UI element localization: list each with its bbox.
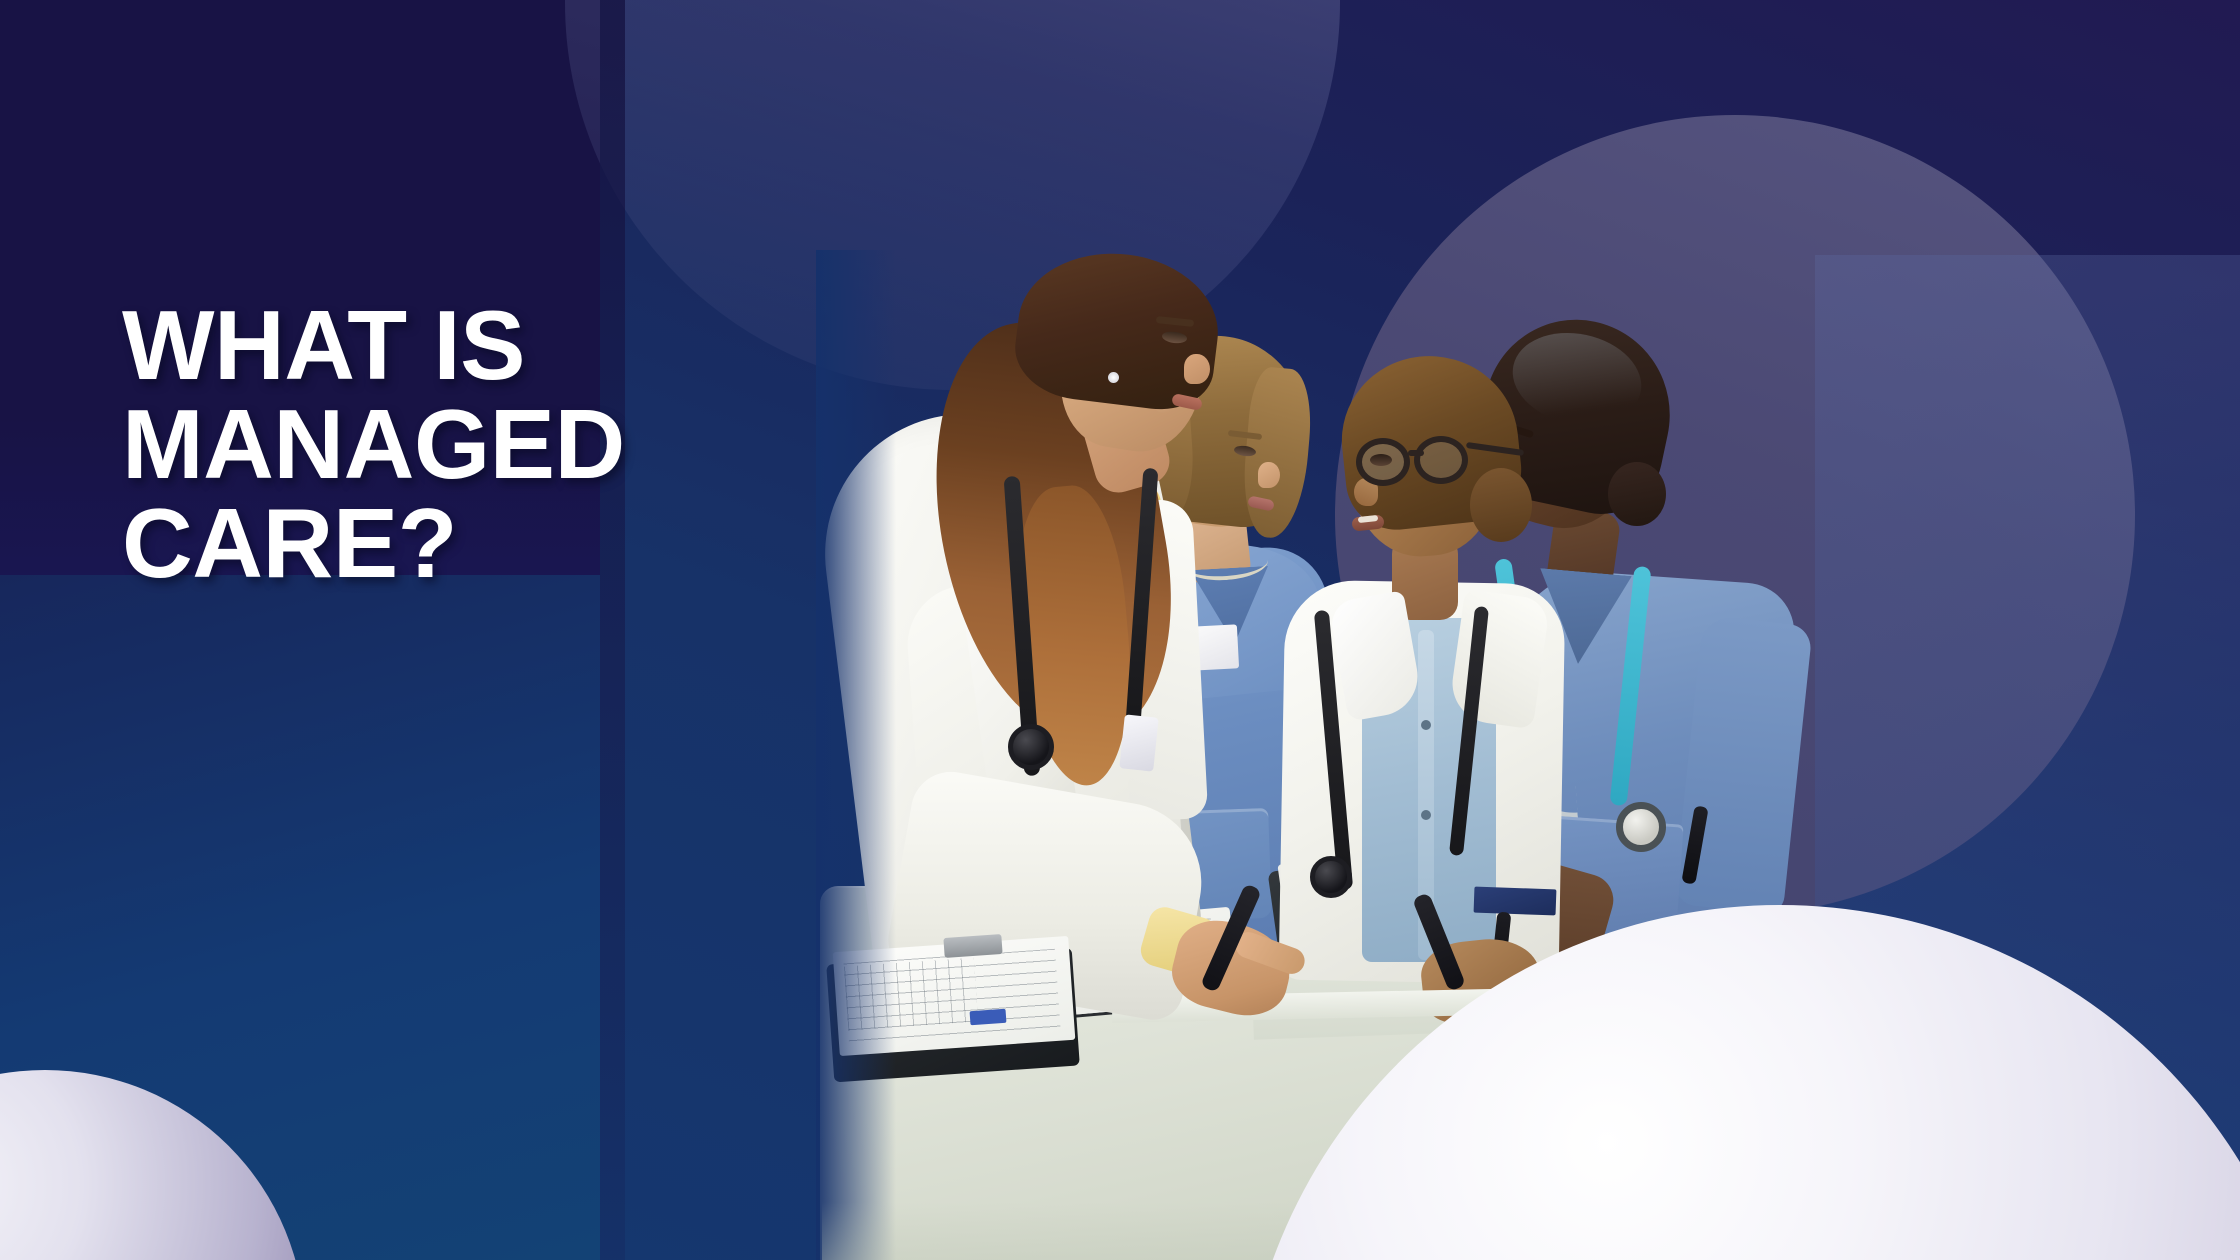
headline: WHAT IS MANAGED CARE? [122,296,882,593]
person-3-lapel-right [1447,589,1550,730]
clipboard-grid-lines [844,958,978,1031]
person-3-hair-bun [1470,468,1532,542]
clipboard-logo [970,1009,1007,1025]
headline-line-3: CARE? [122,494,882,593]
banner-canvas: WHAT IS MANAGED CARE? [0,0,2240,1260]
person-1-earring [1108,372,1119,383]
page-title: WHAT IS MANAGED CARE? [122,296,882,593]
person-1-nose [1184,354,1210,384]
eyeglasses-lens-right [1414,436,1468,484]
person-3-name-badge [1474,887,1557,916]
clipboard-clamp [943,934,1002,958]
person-1-stethoscope-chestpiece [1008,724,1054,770]
panel-divider-column [600,0,625,1260]
headline-line-2: MANAGED [122,395,882,494]
person-3-eye [1370,454,1392,466]
person-1-id-badge [1119,714,1158,771]
person-4-hair-bun [1608,462,1666,526]
person-3-shirt-button-2 [1421,810,1431,820]
person-4-stethoscope-chestpiece [1616,802,1666,852]
person-3-stethoscope-chestpiece [1310,856,1352,898]
person-2-nose [1258,462,1280,488]
headline-line-1: WHAT IS [122,296,882,395]
person-3-shirt-button-1 [1421,720,1431,730]
eyeglasses-bridge [1408,450,1424,456]
